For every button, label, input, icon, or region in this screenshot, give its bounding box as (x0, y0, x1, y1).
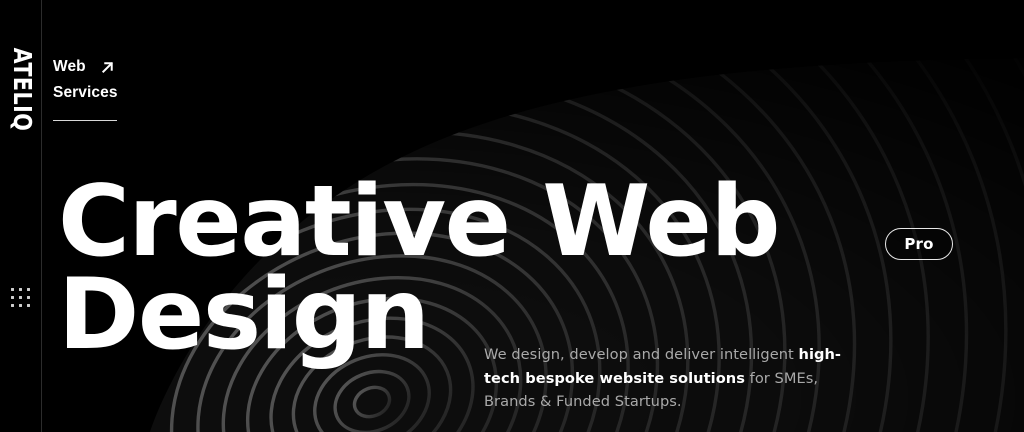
page-title: Creative Web Design (58, 176, 779, 362)
grid-dot (27, 296, 30, 299)
grid-dot (11, 304, 14, 307)
grid-dot (19, 304, 22, 307)
rail-divider (41, 0, 42, 432)
grid-dot (19, 296, 22, 299)
nav-line-bottom: Services (53, 80, 118, 106)
nav-underline (53, 120, 117, 121)
grid-dot (27, 304, 30, 307)
nav-label-line2: Services (53, 80, 118, 106)
grid-dot (19, 288, 22, 291)
left-rail: ATELIQ (0, 0, 42, 432)
grid-dots-icon[interactable] (11, 288, 32, 309)
nav-label-line1: Web (53, 54, 86, 80)
hero-screen: ATELIQ Web Services Creat (0, 0, 1024, 432)
grid-dot (11, 288, 14, 291)
nav-line-top: Web (53, 54, 118, 80)
pro-badge[interactable]: Pro (885, 228, 953, 260)
page-title-line-1: Creative Web (58, 176, 779, 269)
arrow-up-right-icon (100, 60, 115, 75)
grid-dot (11, 296, 14, 299)
nav-web-services[interactable]: Web Services (53, 54, 118, 121)
pro-badge-label: Pro (904, 235, 933, 253)
hero-description: We design, develop and deliver intellige… (484, 343, 844, 414)
grid-dot (27, 288, 30, 291)
hero-description-part-1: We design, develop and deliver intellige… (484, 346, 799, 363)
brand-logo-text: ATELIQ (9, 47, 38, 131)
brand-logo[interactable]: ATELIQ (9, 29, 37, 149)
